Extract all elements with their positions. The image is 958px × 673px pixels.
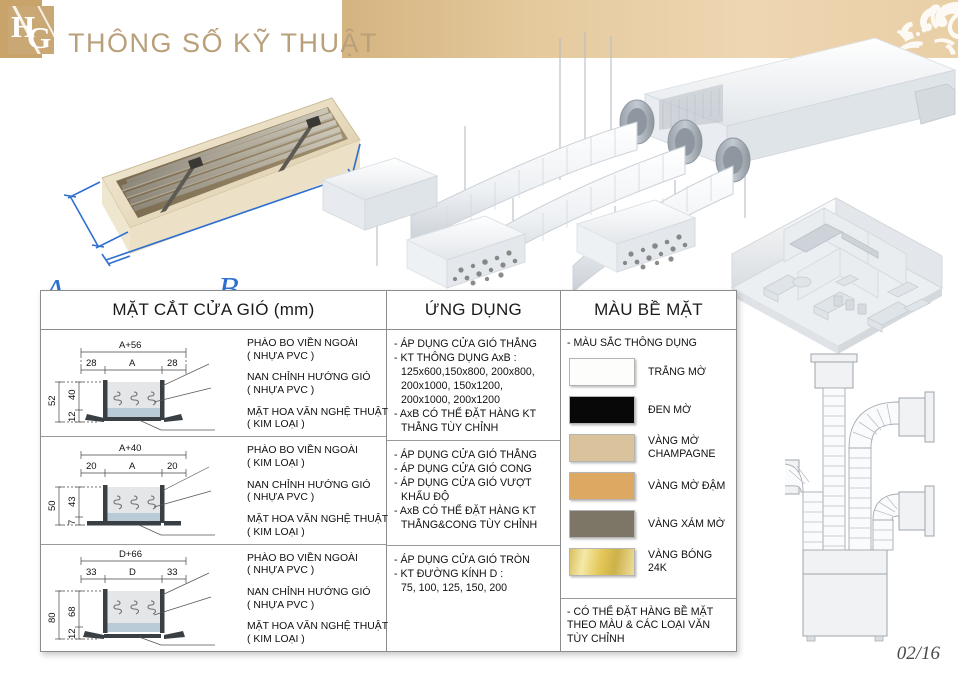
application-cell-2: - ÁP DỤNG CỬA GIÓ THẲNG - ÁP DỤNG CỬA GI…	[387, 441, 560, 547]
svg-text:43: 43	[67, 497, 78, 508]
svg-text:20: 20	[86, 461, 97, 472]
color-swatch-row: VÀNG BÓNG 24K	[569, 543, 736, 581]
legend-item: PHÀO BO VIỀN NGOÀI ( KIM LOẠI )	[247, 445, 388, 470]
svg-text:A+40: A+40	[119, 443, 141, 454]
cross-section-drawing-2: A+40 20 A 20 50 43 7	[41, 437, 241, 543]
table-row: A+56 28 A 28 52 40 12 PHÀO	[41, 330, 386, 437]
table-body: A+56 28 A 28 52 40 12 PHÀO	[41, 330, 736, 651]
swatch-label: VÀNG MỜ ĐẬM	[635, 480, 725, 493]
legend-item: PHÀO BO VIỀN NGOÀI ( NHỰA PVC )	[247, 338, 388, 363]
svg-text:50: 50	[47, 501, 58, 512]
cross-section-drawing-3: D+66 33 D 33 80 68 12	[41, 545, 241, 651]
svg-text:28: 28	[167, 358, 178, 369]
application-text-2: - ÁP DỤNG CỬA GIÓ THẲNG - ÁP DỤNG CỬA GI…	[394, 448, 555, 532]
svg-text:A+56: A+56	[119, 340, 141, 351]
legend-group-3: PHÀO BO VIỀN NGOÀI ( NHỰA PVC ) NAN CHỈN…	[241, 545, 390, 651]
legend-item: NAN CHỈNH HƯỚNG GIÓ ( NHỰA PVC )	[247, 587, 388, 612]
legend-group-1: PHÀO BO VIỀN NGOÀI ( NHỰA PVC ) NAN CHỈN…	[241, 330, 390, 436]
svg-text:33: 33	[86, 567, 97, 578]
column-cross-sections: A+56 28 A 28 52 40 12 PHÀO	[41, 330, 387, 651]
color-section-heading: - MÀU SẮC THÔNG DỤNG	[561, 330, 736, 353]
svg-text:D: D	[129, 567, 136, 578]
swatch-vang-mo-champagne	[569, 434, 635, 462]
color-swatch-list: TRẮNG MỜ ĐEN MỜ VÀNG MỜ CHAMPAGNE	[561, 353, 736, 598]
column-applications: - ÁP DỤNG CỬA GIÓ THẲNG - KT THÔNG DỤNG …	[387, 330, 561, 651]
svg-text:52: 52	[47, 395, 58, 406]
application-cell-3: - ÁP DỤNG CỬA GIÓ TRÒN - KT ĐƯỜNG KÍNH D…	[387, 546, 560, 651]
duct-layout-line-drawing	[785, 352, 958, 647]
hg-logo: H G	[8, 6, 54, 54]
specification-table: MẶT CẮT CỬA GIÓ (mm) ỨNG DỤNG MÀU BỀ MẶT	[40, 290, 737, 652]
swatch-label: VÀNG XÁM MỜ	[635, 518, 725, 531]
column-surface-colors: - MÀU SẮC THÔNG DỤNG TRẮNG MỜ ĐEN MỜ	[561, 330, 736, 651]
application-text-3: - ÁP DỤNG CỬA GIÓ TRÒN - KT ĐƯỜNG KÍNH D…	[394, 553, 555, 595]
legend-group-2: PHÀO BO VIỀN NGOÀI ( KIM LOẠI ) NAN CHỈN…	[241, 437, 390, 543]
svg-text:12: 12	[67, 411, 78, 422]
svg-text:68: 68	[67, 606, 78, 617]
svg-text:A: A	[129, 461, 136, 472]
logo-letter-g: G	[27, 22, 54, 54]
svg-text:12: 12	[67, 628, 78, 639]
color-swatch-row: VÀNG XÁM MỜ	[569, 505, 736, 543]
swatch-den-mo	[569, 396, 635, 424]
svg-text:D+66: D+66	[119, 549, 142, 560]
legend-item: NAN CHỈNH HƯỚNG GIÓ ( NHỰA PVC )	[247, 372, 388, 397]
swatch-label: TRẮNG MỜ	[635, 366, 706, 379]
svg-text:80: 80	[47, 612, 58, 623]
cross-section-drawing-1: A+56 28 A 28 52 40 12	[41, 330, 241, 436]
table-header-row: MẶT CẮT CỬA GIÓ (mm) ỨNG DỤNG MÀU BỀ MẶT	[41, 291, 736, 330]
svg-text:20: 20	[167, 461, 178, 472]
table-row: A+40 20 A 20 50 43 7 PHÀO B	[41, 437, 386, 544]
swatch-vang-bong-24k	[569, 548, 635, 576]
swatch-vang-xam-mo	[569, 510, 635, 538]
color-swatch-row: TRẮNG MỜ	[569, 353, 736, 391]
swatch-label: ĐEN MỜ	[635, 404, 691, 417]
swatch-label: VÀNG MỜ CHAMPAGNE	[635, 435, 716, 460]
table-row: D+66 33 D 33 80 68 12 PHÀO	[41, 545, 386, 651]
legend-item: NAN CHỈNH HƯỚNG GIÓ ( NHỰA PVC )	[247, 480, 388, 505]
color-swatch-row: VÀNG MỜ CHAMPAGNE	[569, 429, 736, 467]
application-text-1: - ÁP DỤNG CỬA GIÓ THẲNG - KT THÔNG DỤNG …	[394, 337, 555, 436]
svg-text:A: A	[129, 358, 136, 369]
custom-finish-note: - CÓ THỂ ĐẶT HÀNG BỀ MẶT THEO MÀU & CÁC …	[561, 598, 736, 651]
svg-text:40: 40	[67, 389, 78, 400]
svg-text:33: 33	[167, 567, 178, 578]
page-number: 02/16	[897, 643, 940, 665]
legend-item: MẶT HOA VĂN NGHỆ THUẬT ( KIM LOẠI )	[247, 514, 388, 539]
color-swatch-row: VÀNG MỜ ĐẬM	[569, 467, 736, 505]
column-header-section: MẶT CẮT CỬA GIÓ (mm)	[41, 291, 387, 329]
svg-text:28: 28	[86, 358, 97, 369]
legend-item: PHÀO BO VIỀN NGOÀI ( NHỰA PVC )	[247, 553, 388, 578]
swatch-label: VÀNG BÓNG 24K	[635, 549, 712, 574]
isometric-floorplan-render	[728, 196, 958, 356]
page-root: H G THÔNG SỐ KỸ THUẬT	[0, 0, 958, 673]
legend-item: MẶT HOA VĂN NGHỆ THUẬT ( KIM LOẠI )	[247, 621, 388, 646]
swatch-vang-mo-dam	[569, 472, 635, 500]
svg-text:7: 7	[67, 520, 78, 525]
color-swatch-row: ĐEN MỜ	[569, 391, 736, 429]
swatch-trang-mo	[569, 358, 635, 386]
legend-item: MẶT HOA VĂN NGHỆ THUẬT ( KIM LOẠI )	[247, 407, 388, 432]
application-cell-1: - ÁP DỤNG CỬA GIÓ THẲNG - KT THÔNG DỤNG …	[387, 330, 560, 441]
column-header-surface-color: MÀU BỀ MẶT	[561, 291, 736, 329]
column-header-application: ỨNG DỤNG	[387, 291, 561, 329]
